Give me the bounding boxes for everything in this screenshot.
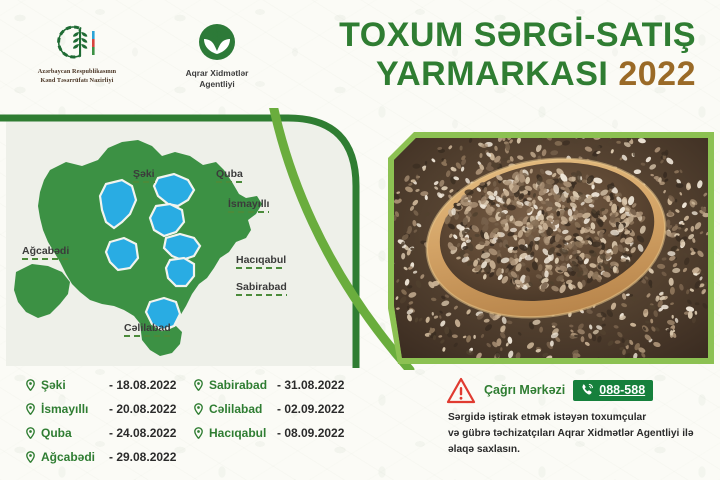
schedule-city: Sabirabad: [209, 378, 271, 392]
call-center-block: Çağrı Mərkəzi 088-588 Sərgidə iştirak et…: [446, 376, 708, 457]
phone-ringing-icon: [580, 383, 594, 397]
schedule-city: Şəki: [41, 378, 103, 392]
page-title: TOXUM SƏRGİ-SATIŞ YARMARKASI2022: [226, 16, 696, 95]
map-label-underline: [133, 181, 155, 183]
warning-triangle-icon: [446, 376, 476, 404]
location-pin-icon: [194, 379, 203, 391]
map-label-2: İsmayıllı: [228, 198, 269, 213]
photo-inner: [394, 138, 708, 358]
map-label-text: Şəki: [133, 168, 155, 180]
schedule-city: Ağcabədi: [41, 450, 103, 464]
schedule-item: Quba- 24.08.2022: [26, 426, 194, 440]
schedule-item: Hacıqabul- 08.09.2022: [194, 426, 384, 440]
header: Azərbaycan Respublikasının Kənd Təsərrüf…: [0, 0, 720, 118]
map-label-0: Şəki: [133, 168, 155, 183]
call-center-note-line-2: və gübrə təchizatçıları Aqrar Xidmətlər …: [448, 428, 694, 439]
title-line-1: TOXUM SƏRGİ-SATIŞ: [226, 16, 696, 55]
photo-frame: [388, 132, 714, 364]
call-center-note: Sərgidə iştirak etmək istəyən toxumçular…: [448, 410, 704, 457]
title-year: 2022: [618, 55, 696, 93]
call-center-label: Çağrı Mərkəzi: [484, 383, 565, 397]
map-label-underline: [236, 267, 286, 269]
location-pin-icon: [26, 427, 35, 439]
map-label-text: Sabirabad: [236, 281, 287, 293]
schedule-item: Ağcabədi- 29.08.2022: [26, 450, 194, 464]
map-label-text: Ağcabədi: [22, 245, 69, 257]
schedule-date: - 18.08.2022: [109, 378, 176, 392]
chia-seeds-in-wooden-spoon-photo: [394, 138, 708, 358]
map-label-5: Sabirabad: [236, 281, 287, 296]
map-label-underline: [216, 181, 243, 183]
map-label-underline: [228, 211, 269, 213]
schedule-city: Hacıqabul: [209, 426, 271, 440]
map-label-text: Quba: [216, 168, 243, 180]
schedule-date: - 02.09.2022: [277, 402, 344, 416]
map-label-underline: [124, 335, 171, 337]
map-label-6: Cəlilabad: [124, 322, 171, 337]
ministry-logo-block: Azərbaycan Respublikasının Kənd Təsərrüf…: [18, 22, 136, 86]
map-label-1: Quba: [216, 168, 243, 183]
location-pin-icon: [26, 451, 35, 463]
location-pin-icon: [194, 427, 203, 439]
schedule-item: Cəlilabad- 02.09.2022: [194, 402, 384, 416]
schedule-item: İsmayıllı- 20.08.2022: [26, 402, 194, 416]
call-center-header: Çağrı Mərkəzi 088-588: [446, 376, 708, 404]
location-pin-icon: [194, 403, 203, 415]
map-label-underline: [22, 258, 69, 260]
call-center-note-line-1: Sərgidə iştirak etmək istəyən toxumçular: [448, 412, 646, 423]
schedule-city: İsmayıllı: [41, 402, 103, 416]
map-label-underline: [236, 294, 287, 296]
title-line-2-text: YARMARKASI: [376, 55, 608, 93]
schedule-date: - 29.08.2022: [109, 450, 176, 464]
poster-canvas: Azərbaycan Respublikasının Kənd Təsərrüf…: [0, 0, 720, 480]
call-center-phone-badge[interactable]: 088-588: [573, 380, 653, 401]
call-center-note-line-3: əlaqə saxlasın.: [448, 444, 520, 455]
location-pin-icon: [26, 403, 35, 415]
map-label-3: Ağcabədi: [22, 245, 69, 260]
schedule-date: - 24.08.2022: [109, 426, 176, 440]
schedule-item: Sabirabad- 31.08.2022: [194, 378, 384, 392]
map-exclave-nakhchivan: [14, 264, 70, 318]
map-label-text: Hacıqabul: [236, 254, 286, 266]
schedule-date: - 08.09.2022: [277, 426, 344, 440]
wheat-gear-ministry-logo-icon: [49, 22, 105, 62]
schedule-city: Quba: [41, 426, 103, 440]
ministry-logo-caption: Azərbaycan Respublikasının Kənd Təsərrüf…: [38, 67, 116, 86]
title-line-2: YARMARKASI2022: [226, 55, 696, 94]
location-pin-icon: [26, 379, 35, 391]
map-label-text: İsmayıllı: [228, 198, 269, 210]
schedule-item: Şəki- 18.08.2022: [26, 378, 194, 392]
event-schedule-list: Şəki- 18.08.2022Sabirabad- 31.08.2022İsm…: [26, 378, 406, 464]
schedule-city: Cəlilabad: [209, 402, 271, 416]
schedule-date: - 31.08.2022: [277, 378, 344, 392]
call-center-phone-number: 088-588: [599, 383, 645, 397]
map-label-text: Cəlilabad: [124, 322, 171, 334]
map-label-4: Hacıqabul: [236, 254, 286, 269]
schedule-date: - 20.08.2022: [109, 402, 176, 416]
